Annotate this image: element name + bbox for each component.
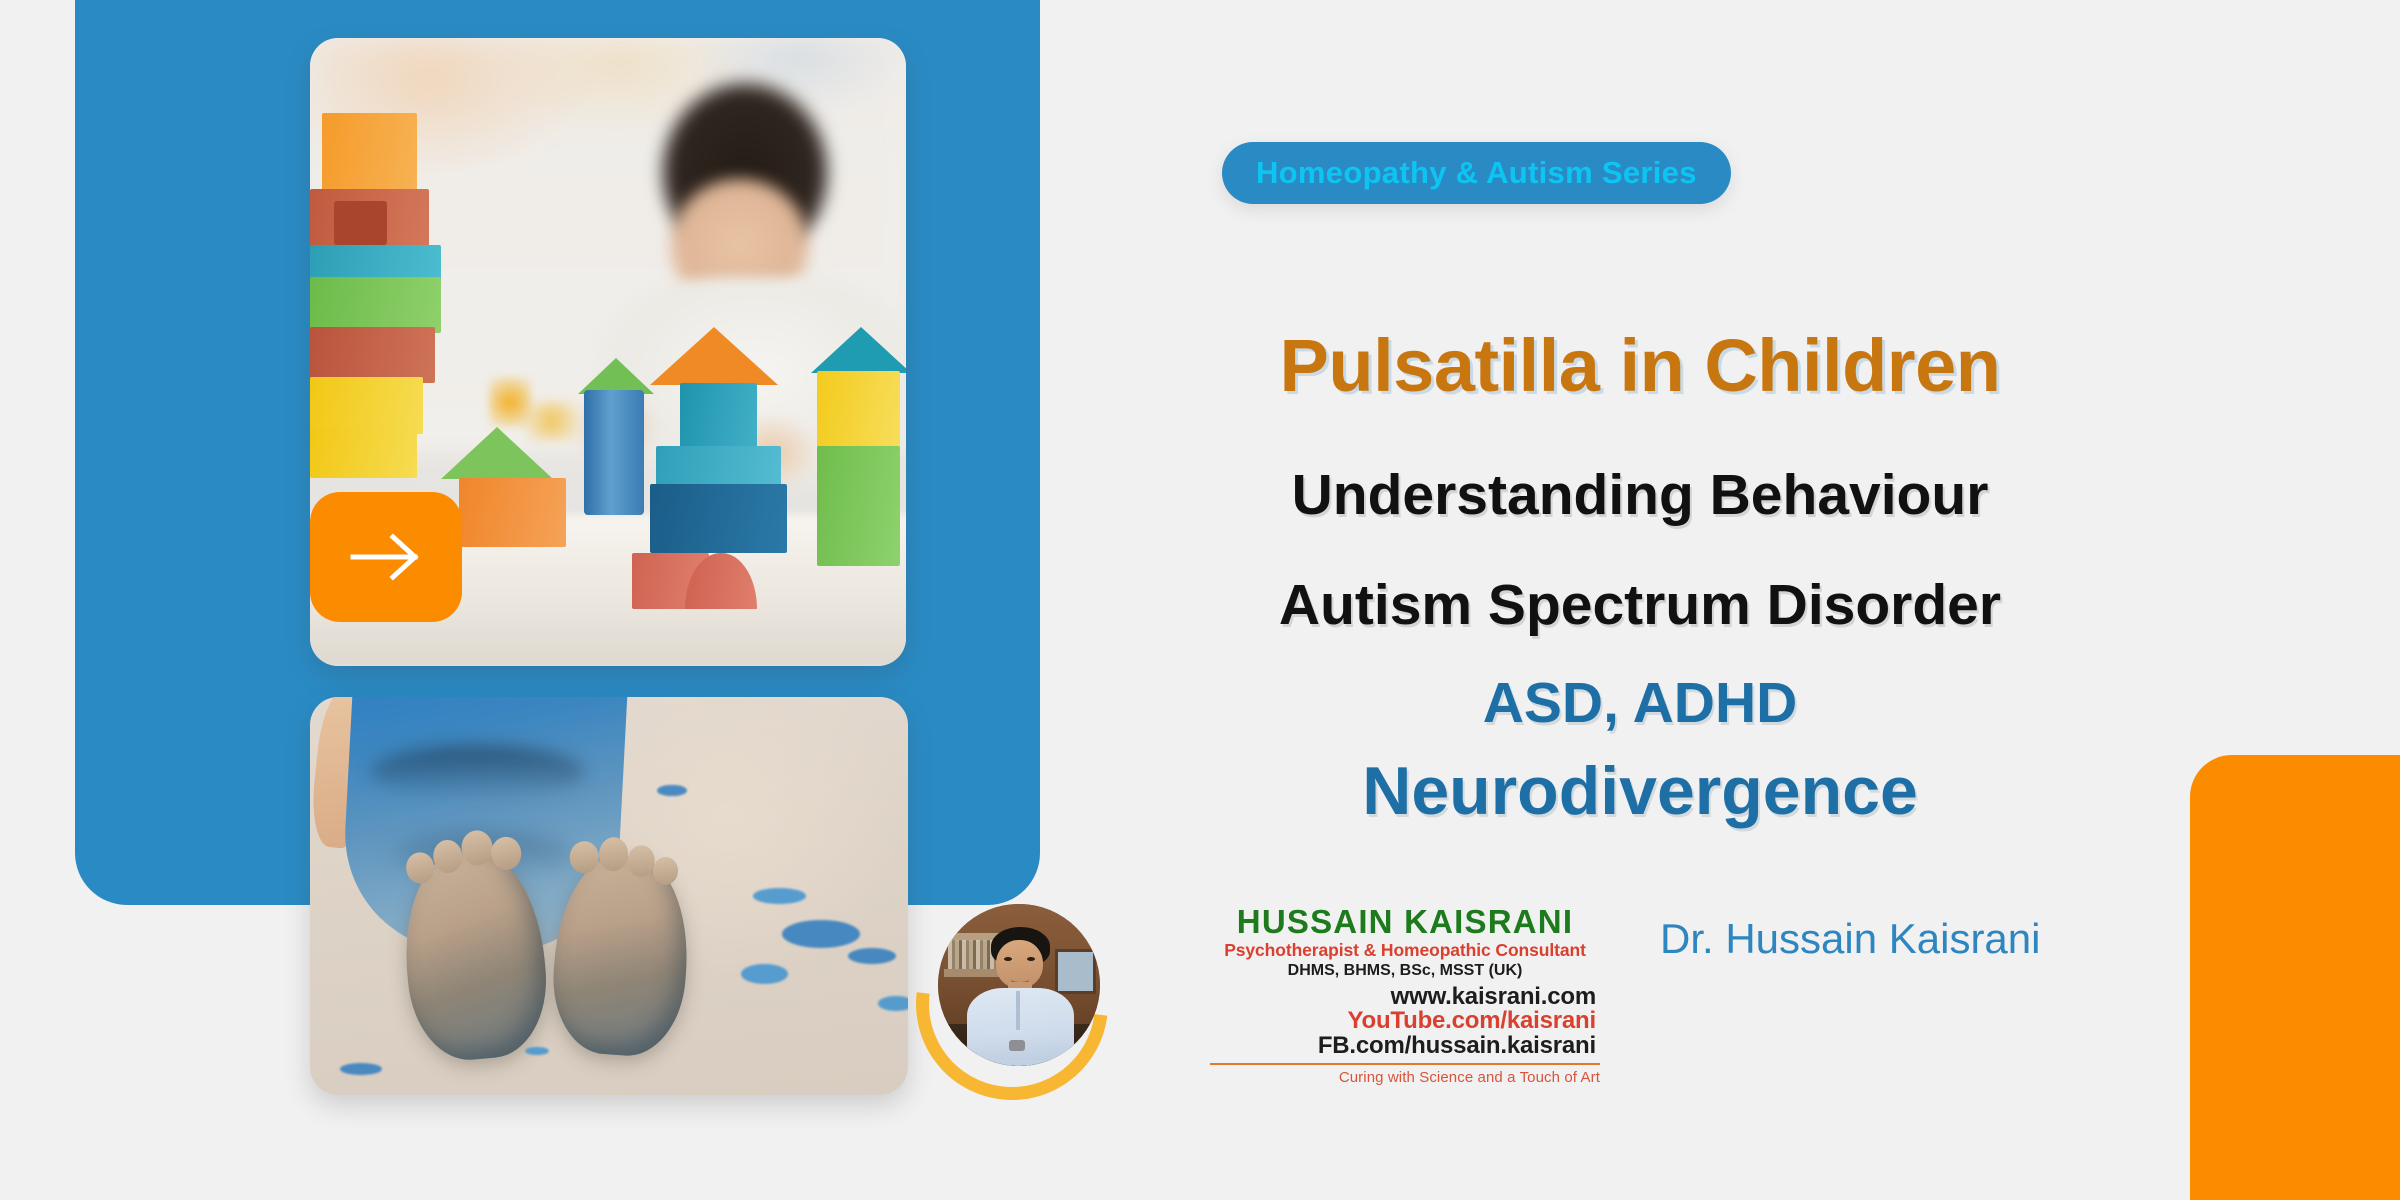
photo-feet-jeans-fold-1 — [370, 745, 585, 801]
avatar — [920, 900, 1100, 1080]
avatar-photo — [938, 904, 1100, 1066]
avatar-wall-picture — [1055, 949, 1097, 994]
photo-block-stack-orange — [322, 113, 417, 195]
photo-block-green-roof-2 — [578, 358, 654, 394]
subtitle-neurodivergence: Neurodivergence — [1100, 752, 2180, 830]
logo-name: HUSSAIN KAISRANI — [1210, 905, 1600, 939]
author-byline: Dr. Hussain Kaisrani — [1660, 915, 2040, 963]
subtitle-understanding-behaviour: Understanding Behaviour — [1120, 462, 2160, 528]
photo-block-stack-yellow-2 — [310, 427, 417, 477]
logo-links: www.kaisrani.com YouTube.com/kaisrani FB… — [1210, 985, 1600, 1058]
photo-block-yellow-tower — [817, 371, 900, 453]
photo-block-green-tower — [817, 446, 900, 565]
photo-block-green-roof — [441, 427, 553, 479]
logo-role: Psychotherapist & Homeopathic Consultant — [1210, 942, 1600, 960]
photo-card-feet — [310, 697, 908, 1095]
avatar-wristwatch — [1009, 1040, 1025, 1051]
orange-accent-block — [2190, 755, 2400, 1200]
photo-block-orange-triangle — [650, 327, 778, 385]
photo-block-teal-triangle — [811, 327, 906, 373]
logo-tagline: Curing with Science and a Touch of Art — [1210, 1070, 1600, 1085]
photo-block-stack-arch-hole — [334, 201, 388, 245]
logo-divider — [1210, 1063, 1600, 1065]
photo-block-navy-base — [650, 484, 787, 553]
logo-facebook-link[interactable]: FB.com/hussain.kaisrani — [1210, 1034, 1596, 1058]
logo-degrees: DHMS, BHMS, BSc, MSST (UK) — [1210, 963, 1600, 979]
page-title: Pulsatilla in Children — [1120, 323, 2160, 408]
next-arrow-button[interactable] — [310, 492, 462, 622]
logo-youtube-link[interactable]: YouTube.com/kaisrani — [1210, 1009, 1596, 1033]
photo-block-blue-cylinder — [584, 390, 644, 516]
series-badge-label: Homeopathy & Autism Series — [1256, 155, 1697, 191]
arrow-right-icon — [349, 531, 423, 583]
photo-block-orange-house — [459, 478, 566, 547]
logo-website-link[interactable]: www.kaisrani.com — [1210, 985, 1596, 1009]
photo-block-stack-green — [310, 277, 441, 334]
subtitle-autism-spectrum-disorder: Autism Spectrum Disorder — [1090, 572, 2190, 638]
series-badge: Homeopathy & Autism Series — [1222, 142, 1731, 204]
photo-block-stack-yellow-1 — [310, 377, 423, 434]
practitioner-logo: HUSSAIN KAISRANI Psychotherapist & Homeo… — [1210, 905, 1600, 1086]
subtitle-asd-adhd: ASD, ADHD — [1120, 670, 2160, 736]
social-media-card: Homeopathy & Autism Series Pulsatilla in… — [0, 0, 2400, 1200]
photo-block-stack-red — [310, 327, 435, 384]
